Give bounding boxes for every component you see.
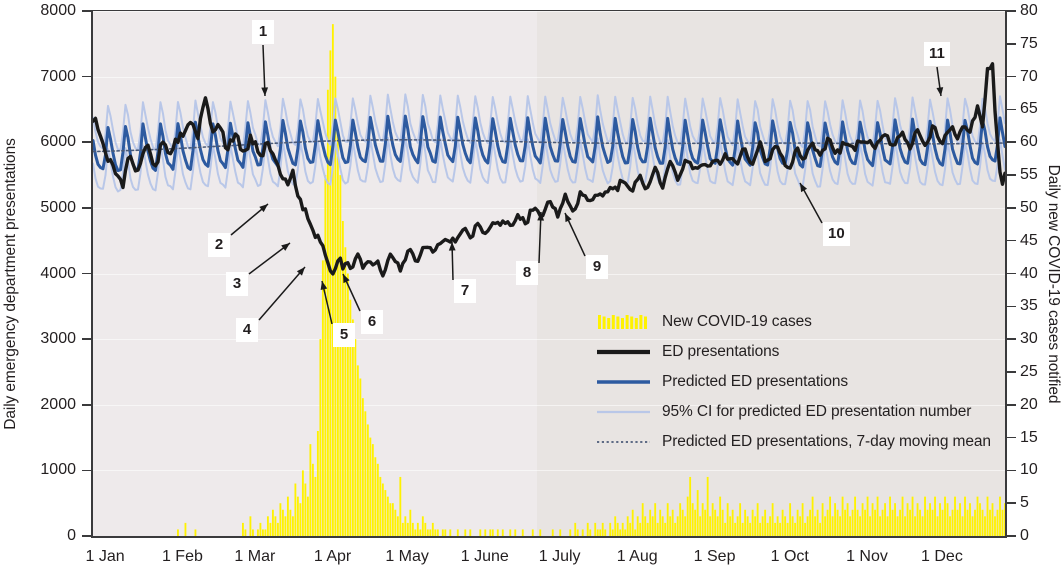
annotation-marker-11[interactable]: 11 xyxy=(924,42,950,66)
annotation-marker-1[interactable]: 1 xyxy=(252,20,274,44)
figure-canvas: Daily emergency department presentations… xyxy=(0,0,1064,568)
annotation-marker-6[interactable]: 6 xyxy=(361,310,383,334)
annotation-marker-5[interactable]: 5 xyxy=(333,323,355,347)
annotation-marker-8[interactable]: 8 xyxy=(516,261,538,285)
annotation-marker-10[interactable]: 10 xyxy=(823,222,850,246)
annotation-marker-4[interactable]: 4 xyxy=(236,318,258,342)
annotation-marker-9[interactable]: 9 xyxy=(586,255,608,279)
annotation-marker-3[interactable]: 3 xyxy=(226,272,248,296)
annotation-marker-2[interactable]: 2 xyxy=(208,233,230,257)
annotation-marker-7[interactable]: 7 xyxy=(454,279,476,303)
